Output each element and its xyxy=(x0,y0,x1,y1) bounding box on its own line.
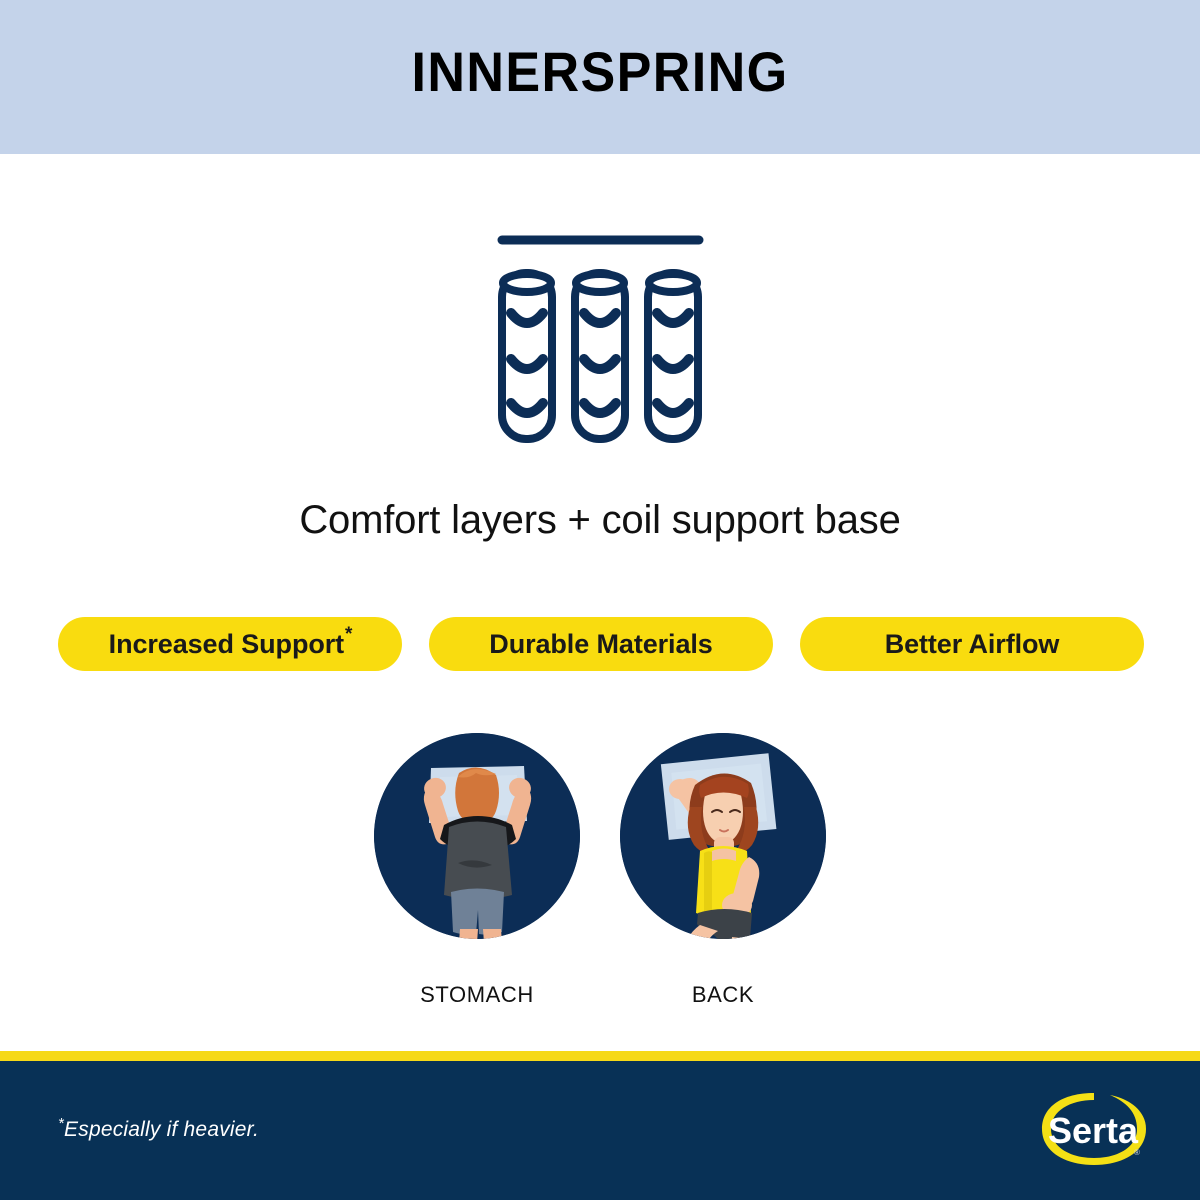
footer-divider xyxy=(0,1051,1200,1061)
feature-pill-better-airflow[interactable]: Better Airflow xyxy=(800,617,1144,671)
feature-pill-label: Durable Materials xyxy=(489,629,712,659)
back-sleeper-illustration xyxy=(620,733,826,939)
coil-2 xyxy=(575,273,625,439)
sleep-position-stomach[interactable]: STOMACH xyxy=(374,733,580,1008)
registered-mark: ® xyxy=(1134,1148,1140,1157)
stomach-sleeper-illustration xyxy=(374,733,580,939)
footnote-body: Especially if heavier. xyxy=(64,1118,259,1141)
infographic-page: INNERSPRING xyxy=(0,0,1200,1200)
sleep-position-row: STOMACH xyxy=(374,733,826,1023)
coil-3 xyxy=(648,273,698,439)
coil-stack-icon xyxy=(480,225,720,450)
feature-pill-label: Increased Support xyxy=(109,629,344,659)
footnote-text: *Especially if heavier. xyxy=(58,1118,259,1142)
feature-pill-row: Increased Support* Durable Materials Bet… xyxy=(58,617,1144,671)
feature-pill-label: Better Airflow xyxy=(885,629,1060,659)
sleep-position-back[interactable]: BACK xyxy=(620,733,826,1008)
serta-wordmark: Serta xyxy=(1048,1110,1139,1151)
page-title: INNERSPRING xyxy=(42,42,1158,102)
serta-logo[interactable]: Serta ® xyxy=(1036,1085,1152,1175)
sleep-position-label: STOMACH xyxy=(374,982,580,1008)
coil-1 xyxy=(502,273,552,439)
feature-pill-increased-support[interactable]: Increased Support* xyxy=(58,617,402,671)
sleep-position-label: BACK xyxy=(620,982,826,1008)
subtitle: Comfort layers + coil support base xyxy=(0,498,1200,543)
feature-pill-durable-materials[interactable]: Durable Materials xyxy=(429,617,773,671)
footnote-marker: * xyxy=(345,624,352,645)
